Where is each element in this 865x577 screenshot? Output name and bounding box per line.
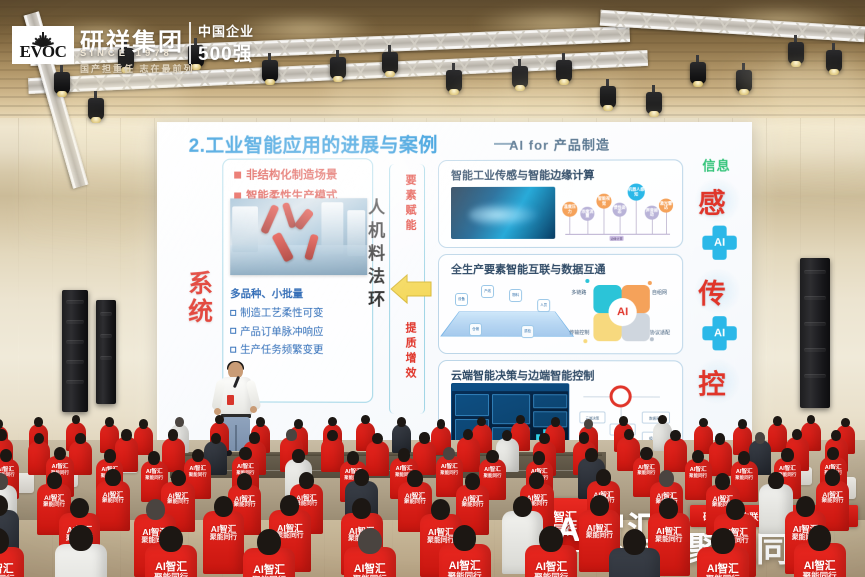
- audience-member-head: [659, 498, 678, 519]
- audience-member-head: [0, 429, 7, 440]
- panel-caption: 智能工业传感与智能边缘计算: [451, 167, 594, 183]
- accent-dot: [650, 337, 654, 341]
- audience-member-torso: [664, 438, 687, 472]
- tshirt-print: AI智汇聚能同行: [243, 565, 295, 577]
- stack-word-control: 控: [698, 362, 725, 401]
- brand-since: SINCE 1978: [80, 48, 173, 59]
- tshirt-print: AI智汇聚能同行: [697, 564, 749, 577]
- node-label: 声音振动: [645, 208, 659, 216]
- tshirt-line-2: 聚能同行: [184, 473, 211, 478]
- node-stem: [569, 216, 570, 234]
- audience-member-head: [70, 498, 89, 519]
- node-stem: [666, 212, 667, 234]
- column-bottom-word: 提质增效: [402, 322, 418, 382]
- tshirt-line-2: 聚能同行: [685, 474, 712, 479]
- ai-badge-label: AI: [702, 235, 736, 251]
- vertical-word-five-elements: 人机料法环: [362, 198, 387, 313]
- checkbox-icon: [230, 328, 236, 334]
- audience-member-head: [658, 415, 667, 425]
- slide-title-suffix: AI for 产品制造: [509, 134, 610, 153]
- audience-member-head: [711, 528, 735, 554]
- production-grid: 设备 产线 物料 人员 仓储 质检: [451, 279, 563, 349]
- ai-cross-badge: AI: [702, 226, 736, 260]
- audience-member-head: [670, 430, 680, 441]
- stack-word-transmit: 传: [698, 272, 725, 311]
- stage-light: [262, 60, 278, 82]
- node-label: 惯性姿态: [613, 205, 627, 213]
- panel-sensing: 智能工业传感与智能边缘计算 边缘计算 温度压力 浓度流量 智能视觉 惯性姿态 机…: [438, 159, 683, 248]
- sensor-node: 机器人感知: [628, 184, 645, 201]
- tshirt-line-2: 聚能同行: [479, 474, 506, 479]
- node-label: 浓度流量: [580, 210, 594, 218]
- audience-member-head: [215, 415, 224, 425]
- node-stem: [636, 200, 637, 234]
- audience-member-head: [294, 419, 303, 429]
- audience-member-head: [453, 525, 477, 551]
- tshirt-line-2: 聚能同行: [439, 572, 491, 577]
- evoc-logo-mark: EVOC: [12, 26, 74, 64]
- tshirt-line-1: AI智汇: [203, 525, 245, 534]
- brand-logo: EVOC 研祥集团 SINCE 1978 国产担重任 志在最前列 中国企业 50…: [12, 12, 212, 64]
- audience-member-head: [69, 525, 93, 551]
- tshirt-line-2: 聚能同行: [456, 503, 489, 509]
- sub-list-item: 制造工艺柔性可变: [230, 305, 323, 320]
- tshirt-print: AI智汇聚能同行: [141, 470, 168, 481]
- photo-robot-arm: [294, 208, 314, 231]
- flow-ring-icon: [610, 385, 632, 407]
- tshirt-line-2: 聚能同行: [794, 572, 846, 577]
- checkbox-icon: [230, 346, 236, 352]
- puzzle-label: 自组网: [652, 289, 667, 296]
- audience-member-head: [773, 416, 782, 426]
- sensing-node-diagram: 边缘计算 温度压力 浓度流量 智能视觉 惯性姿态 机器人感知 声音振动 激光雷达: [561, 182, 674, 242]
- audience-member-head: [34, 417, 43, 427]
- presenter-hand-left: [214, 408, 221, 415]
- audience-member-torso: [96, 481, 129, 531]
- audience-member-head: [249, 432, 259, 443]
- audience-member-head: [579, 432, 589, 443]
- node-stem: [587, 220, 588, 234]
- panel-interconnect: 全生产要素智能互联与数据互通 设备 产线 物料 人员 仓储 质检 AI: [438, 254, 683, 355]
- left-arrow-icon: [389, 272, 433, 306]
- audience-member-head: [623, 529, 647, 555]
- audience-member-head: [781, 448, 793, 462]
- sub-list-item: 产品订单脉冲响应: [230, 323, 323, 338]
- sensor-node: 激光雷达: [659, 199, 673, 213]
- stage-light: [690, 62, 706, 84]
- audience-member-torso: [709, 441, 732, 475]
- puzzle-label: 多链路: [571, 289, 586, 296]
- tshirt-line-2: 聚能同行: [37, 503, 70, 509]
- audience-member-head: [239, 447, 251, 461]
- tshirt-print: AI智汇聚能同行: [145, 562, 197, 577]
- stage-light: [646, 92, 662, 114]
- audience-member-head: [146, 499, 165, 520]
- audience-member-head: [596, 469, 611, 486]
- audience-member-head: [796, 496, 815, 517]
- stage-light: [600, 86, 616, 108]
- audience-member-head: [738, 419, 747, 429]
- tshirt-print: AI智汇聚能同行: [439, 561, 491, 577]
- node-label: 智能视觉: [596, 197, 611, 205]
- tshirt-print: AI智汇聚能同行: [0, 564, 24, 577]
- tshirt-print: AI智汇聚能同行: [37, 495, 70, 508]
- audience-member-head: [257, 529, 281, 555]
- node-stem: [652, 219, 653, 234]
- node-stem: [620, 216, 621, 234]
- tshirt-line-2: 聚能同行: [648, 536, 690, 543]
- checkbox-icon: [230, 309, 236, 315]
- grid-label: 质检: [524, 330, 531, 334]
- sub-list-label: 生产任务频繁变更: [240, 342, 323, 357]
- tshirt-line-1: AI智汇: [648, 527, 690, 536]
- evoc-wordmark: EVOC: [20, 42, 67, 62]
- audience-member-head: [171, 470, 186, 487]
- grid-icon: 物料: [509, 289, 522, 302]
- audience-member-head: [619, 416, 628, 426]
- audience-member-head: [437, 419, 446, 429]
- tshirt-line-2: 聚能同行: [161, 500, 194, 506]
- edge-compute-chip: 边缘计算: [610, 236, 624, 241]
- stack-label-information: 信息: [702, 155, 730, 174]
- tshirt-line-2: 聚能同行: [203, 534, 245, 541]
- audience-member-head: [354, 469, 369, 486]
- tshirt-print: AI智汇聚能同行: [525, 562, 577, 577]
- audience-member-head: [211, 433, 221, 444]
- tshirt-print: AI智汇聚能同行: [344, 564, 396, 577]
- tshirt-line-2: 聚能同行: [633, 471, 660, 476]
- dashboard-widget: [533, 394, 567, 408]
- audience-member-head: [361, 415, 370, 425]
- sensor-node: 浓度流量: [580, 207, 594, 221]
- node-stem: [603, 208, 604, 234]
- tshirt-line-2: 聚能同行: [398, 500, 431, 506]
- sensor-node: 智能视觉: [596, 194, 611, 209]
- sensor-node: 温度压力: [562, 202, 577, 217]
- tshirt-print: AI智汇聚能同行: [579, 524, 621, 540]
- tshirt-print: AI智汇聚能同行: [794, 561, 846, 577]
- audience-member-head: [513, 496, 532, 517]
- tshirt-line-2: 聚能同行: [436, 471, 463, 476]
- tshirt-print: AI智汇聚能同行: [685, 468, 712, 479]
- audience-member-head: [715, 433, 725, 444]
- tshirt-line-2: 聚能同行: [145, 573, 197, 577]
- sensor-node: 声音振动: [645, 206, 659, 220]
- presenter-badge: [227, 395, 234, 405]
- ai-badge-label: AI: [702, 325, 736, 341]
- photo-robot-arm: [260, 204, 279, 235]
- audience-member-head: [585, 448, 597, 462]
- flow-line: [583, 396, 609, 397]
- red-bullet-label: 非结构化制造场景: [246, 166, 337, 182]
- audience-member-head: [286, 429, 296, 440]
- audience-crowd: AI智汇聚能同行AI智汇聚能同行AI智汇聚能同行AI智汇聚能同行AI智汇聚能同行…: [0, 415, 865, 577]
- dashboard-widget: [455, 394, 489, 416]
- sub-list-label: 制造工艺柔性可变: [240, 305, 323, 320]
- sub-list-item: 生产任务频繁变更: [230, 342, 323, 357]
- conference-photo: 2.工业智能应用的进展与案例 AI for 产品制造 系统 非结构化制造场景 智…: [0, 0, 865, 577]
- node-label: 激光雷达: [659, 201, 673, 209]
- audience-member-head: [590, 495, 609, 516]
- tshirt-print: AI智汇聚能同行: [816, 492, 849, 505]
- audience-member-head: [75, 433, 85, 444]
- audience-member-head: [105, 417, 114, 427]
- audience-member-head: [808, 525, 832, 551]
- red-bullet-item: 非结构化制造场景: [234, 166, 337, 182]
- audience-member-head: [539, 526, 563, 552]
- tshirt-print: AI智汇聚能同行: [648, 527, 690, 543]
- photo-machine: [232, 206, 258, 252]
- tshirt-print: AI智汇聚能同行: [456, 496, 489, 509]
- bullet-square-icon: [234, 171, 241, 178]
- audience-member-head: [726, 499, 745, 520]
- panel-caption: 云端智能决策与边端智能控制: [451, 367, 594, 383]
- audience-member-head: [533, 451, 545, 465]
- slide-title: 2.工业智能应用的进展与案例: [189, 130, 438, 158]
- tshirt-print: AI智汇聚能同行: [633, 466, 660, 477]
- puzzle-label: 协议适配: [650, 329, 670, 336]
- flow-line: [632, 396, 660, 397]
- puzzle-label: 传输控制: [569, 329, 589, 336]
- audience-member-head: [280, 495, 299, 516]
- tshirt-print: AI智汇聚能同行: [731, 470, 758, 481]
- tshirt-print: AI智汇聚能同行: [479, 468, 506, 479]
- tshirt-line-2: 聚能同行: [96, 499, 129, 505]
- tshirt-line-2: 聚能同行: [141, 476, 168, 481]
- grid-icon: 设备: [455, 293, 468, 306]
- grid-plane: [440, 312, 574, 337]
- stage-light: [54, 72, 70, 94]
- ai-cross-badge: AI: [702, 316, 736, 350]
- audience-member-head: [121, 429, 131, 440]
- accent-dot: [648, 281, 652, 285]
- audience-member-head: [148, 451, 160, 465]
- audience-member-head: [292, 449, 304, 463]
- audience-member-head: [841, 418, 850, 428]
- audience-member-head: [175, 417, 184, 427]
- audience-member-head: [486, 450, 498, 464]
- audience-member-head: [328, 417, 337, 427]
- audience-member-head: [516, 415, 525, 425]
- pa-speaker-right: [800, 258, 830, 408]
- grid-label: 人员: [540, 304, 547, 308]
- audience-member-head: [327, 430, 337, 441]
- audience-member-head: [398, 448, 410, 462]
- light-beam: [757, 65, 865, 274]
- audience-member-head: [159, 526, 183, 552]
- sub-list-label: 产品订单脉冲响应: [240, 323, 323, 338]
- audience-member-head: [584, 419, 593, 429]
- tshirt-line-2: 聚能同行: [816, 499, 849, 505]
- tshirt-print: AI智汇聚能同行: [184, 467, 211, 478]
- ai-puzzle-diagram: AI 多链路 自组网 传输控制 协议适配: [571, 273, 674, 351]
- audience-member-head: [54, 447, 66, 461]
- audience-member-head: [256, 417, 265, 427]
- audience-member-head: [192, 449, 204, 463]
- audience-member-head: [47, 472, 62, 489]
- audience-member-head: [659, 470, 674, 487]
- chip-label: 边缘计算: [611, 236, 623, 240]
- audience-member-head: [539, 433, 549, 444]
- audience-member-head: [699, 418, 708, 428]
- node-label: 温度压力: [562, 205, 577, 213]
- audience-member-head: [105, 469, 120, 486]
- left-sub-list: 多品种、小批量 制造工艺柔性可变 产品订单脉冲响应 生产任务频繁变更: [230, 286, 323, 360]
- grid-icon: 仓储: [469, 323, 482, 336]
- audience-member-head: [755, 432, 765, 443]
- photo-machine: [321, 202, 343, 254]
- pa-speaker-left: [62, 290, 88, 412]
- brand-slogan: 国产担重任 志在最前列: [80, 62, 195, 75]
- audience-member-head: [529, 472, 544, 489]
- tshirt-line-2: 聚能同行: [579, 532, 621, 539]
- grid-icon: 产线: [481, 285, 494, 298]
- audience-member-head: [551, 417, 560, 427]
- grid-label: 设备: [458, 298, 465, 302]
- tshirt-line-2: 聚能同行: [525, 573, 577, 577]
- vertical-word-system: 系统: [181, 270, 217, 326]
- audience-member-head: [347, 451, 359, 465]
- audience-member-head: [299, 472, 314, 489]
- grid-label: 物料: [512, 294, 519, 298]
- audience-member-head: [0, 449, 12, 463]
- presenter-hand-right: [250, 406, 257, 413]
- panel1-photo: [451, 187, 555, 239]
- audience-member-head: [214, 496, 233, 517]
- grid-icon: 质检: [521, 325, 534, 338]
- pa-speaker-left-2: [96, 300, 116, 404]
- audience-member-head: [104, 449, 116, 463]
- brand-divider: [189, 22, 191, 64]
- column-top-word: 要素赋能: [402, 174, 418, 234]
- accent-dot: [585, 279, 589, 283]
- grid-label: 仓储: [472, 328, 479, 332]
- audience-member-head: [715, 473, 730, 490]
- audience-member-head: [825, 469, 840, 486]
- tshirt-print: AI智汇聚能同行: [436, 465, 463, 476]
- node-label: 机器人感知: [628, 188, 645, 196]
- sensor-node: 惯性姿态: [613, 203, 627, 217]
- audience-member-head: [168, 429, 178, 440]
- accent-dot: [583, 339, 587, 343]
- tshirt-print: AI智汇聚能同行: [96, 492, 129, 505]
- audience-member-head: [624, 429, 634, 440]
- audience-member-torso: [203, 511, 245, 574]
- brand-top500-line1: 中国企业: [198, 21, 254, 40]
- brand-top500-line2: 500强: [198, 39, 253, 66]
- audience-member-head: [139, 419, 148, 429]
- audience-member-head: [407, 470, 422, 487]
- audience-member-head: [358, 528, 382, 554]
- stack-word-sense: 感: [698, 181, 725, 220]
- sub-list-heading: 多品种、小批量: [230, 286, 323, 301]
- audience-member-head: [431, 499, 450, 520]
- factory-robot-photo: [230, 198, 367, 275]
- tshirt-print: AI智汇聚能同行: [161, 493, 194, 506]
- tshirt-line-2: 聚能同行: [731, 476, 758, 481]
- audience-member-head: [352, 498, 371, 519]
- tshirt-print: AI智汇聚能同行: [398, 493, 431, 506]
- grid-icon: 人员: [537, 299, 550, 312]
- tshirt-print: AI智汇聚能同行: [203, 525, 245, 541]
- grid-label: 产线: [484, 290, 491, 294]
- audience-member-head: [237, 473, 252, 490]
- audience-member-head: [768, 472, 783, 489]
- audience-member-head: [397, 417, 406, 427]
- audience-member-torso: [366, 441, 389, 475]
- audience-member-head: [372, 433, 382, 444]
- audience-member-head: [419, 432, 429, 443]
- dashboard-titlebar: [452, 384, 568, 391]
- audience-member-head: [640, 447, 652, 461]
- node-baseline: [565, 234, 670, 235]
- ai-center-badge: AI: [609, 298, 637, 326]
- audience-member-head: [465, 473, 480, 490]
- audience-member-head: [738, 451, 750, 465]
